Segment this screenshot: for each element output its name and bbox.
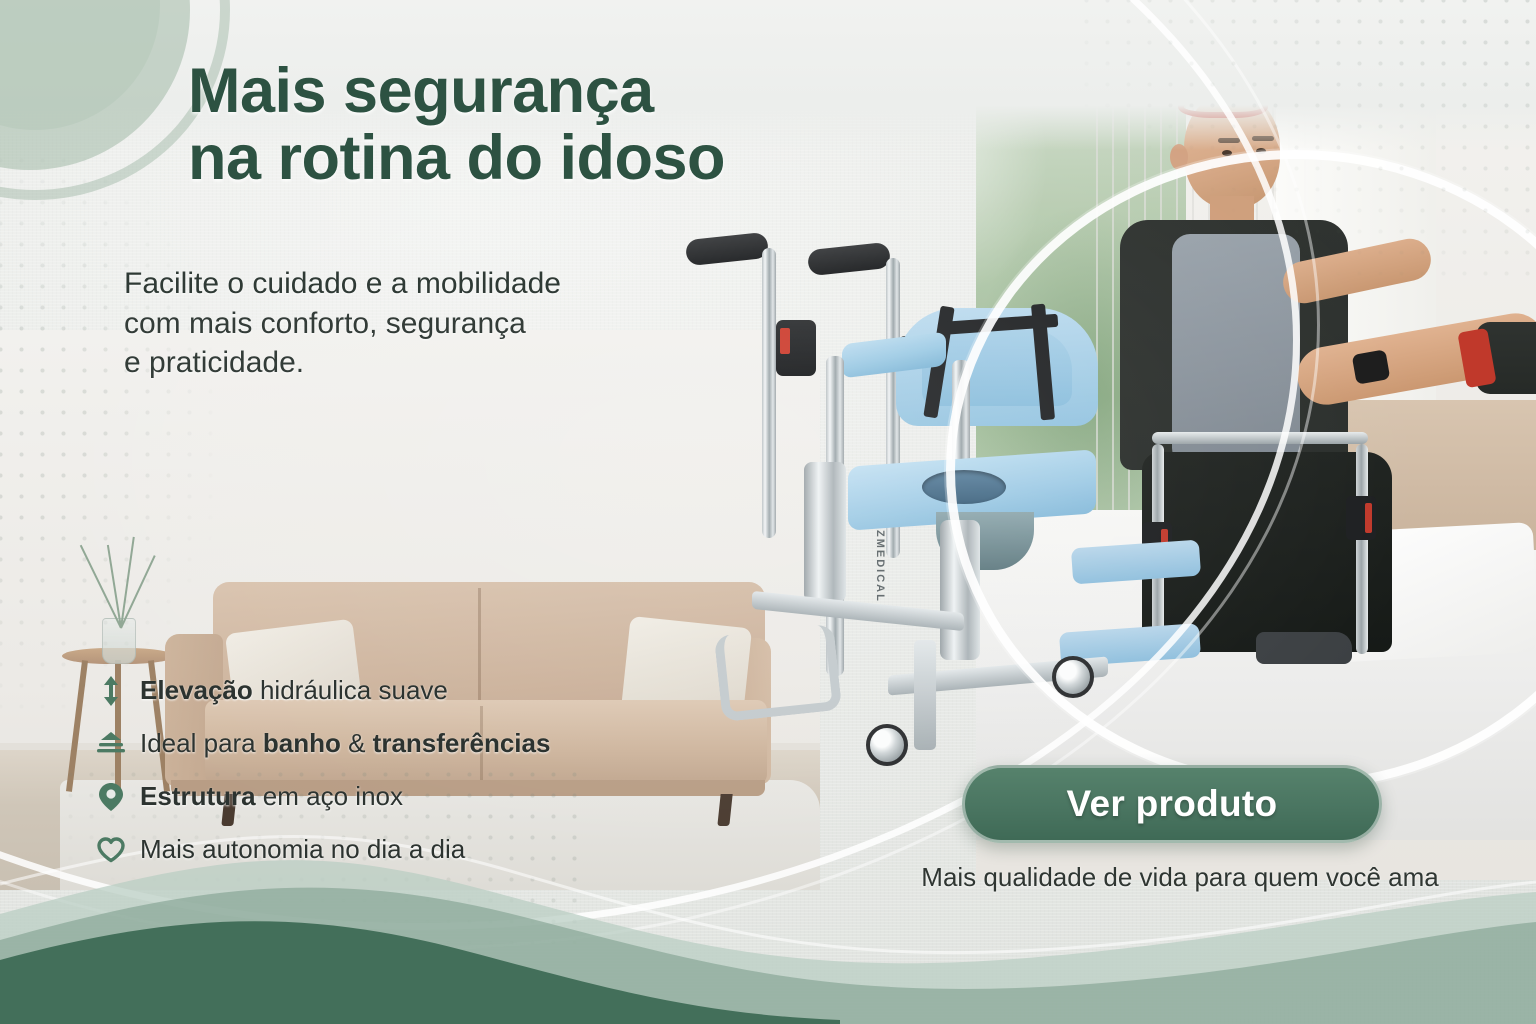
dot-pattern-left <box>0 150 320 710</box>
page-title: Mais segurança na rotina do idoso <box>188 58 828 192</box>
subheadline-line-2: com mais conforto, segurança <box>124 304 704 344</box>
footrest <box>714 624 842 722</box>
feature-text: Elevação hidráulica suave <box>140 675 448 706</box>
feature-prefix: Ideal para <box>140 728 263 758</box>
feature-rest: hidráulica suave <box>253 675 448 705</box>
banner-canvas: ZMEDICAL Mais segurança na rotina do ido… <box>0 0 1536 1024</box>
hydraulic-cylinder-left <box>804 462 846 602</box>
location-pin-icon <box>96 783 126 811</box>
feature-item-elevation: Elevação hidráulica suave <box>96 668 656 713</box>
feature-item-structure: Estrutura em aço inox <box>96 774 656 819</box>
feature-item-bath-transfer: Ideal para banho & transferências <box>96 721 656 766</box>
feature-rest: em aço inox <box>256 781 403 811</box>
brand-mark: ZMEDICAL <box>874 530 886 603</box>
subheadline: Facilite o cuidado e a mobilidade com ma… <box>124 264 704 383</box>
base-bar-upper <box>752 591 964 631</box>
view-product-button[interactable]: Ver produto <box>962 765 1382 843</box>
handle-post-left <box>762 248 776 538</box>
arrow-up-down-icon <box>96 676 126 706</box>
feature-bold-a: banho <box>263 728 341 758</box>
headline-line-2: na rotina do idoso <box>188 125 828 192</box>
feature-list: Elevação hidráulica suave Ideal para ban… <box>96 668 656 880</box>
feature-text: Mais autonomia no dia a dia <box>140 834 465 865</box>
feature-item-autonomy: Mais autonomia no dia a dia <box>96 827 656 872</box>
cta-tagline: Mais qualidade de vida para quem você am… <box>890 862 1470 893</box>
feature-bold-b: transferências <box>373 728 551 758</box>
subheadline-line-3: e praticidade. <box>124 343 704 383</box>
handle-grip-right <box>807 242 891 276</box>
heart-icon <box>96 837 126 863</box>
quick-release-clamp-left <box>776 320 816 376</box>
base-column <box>914 640 936 750</box>
caster-wheel-front <box>866 724 908 766</box>
feature-text: Estrutura em aço inox <box>140 781 403 812</box>
feature-rest: Mais autonomia no dia a dia <box>140 834 465 864</box>
headline-line-1: Mais segurança <box>188 58 828 125</box>
feature-bold: Elevação <box>140 675 253 705</box>
feature-mid: & <box>341 728 373 758</box>
layers-shower-icon <box>96 731 126 757</box>
feature-text: Ideal para banho & transferências <box>140 728 550 759</box>
view-product-button-label: Ver produto <box>1067 783 1278 825</box>
feature-bold: Estrutura <box>140 781 256 811</box>
dot-pattern-top-right <box>1076 0 1536 290</box>
subheadline-line-1: Facilite o cuidado e a mobilidade <box>124 264 704 304</box>
